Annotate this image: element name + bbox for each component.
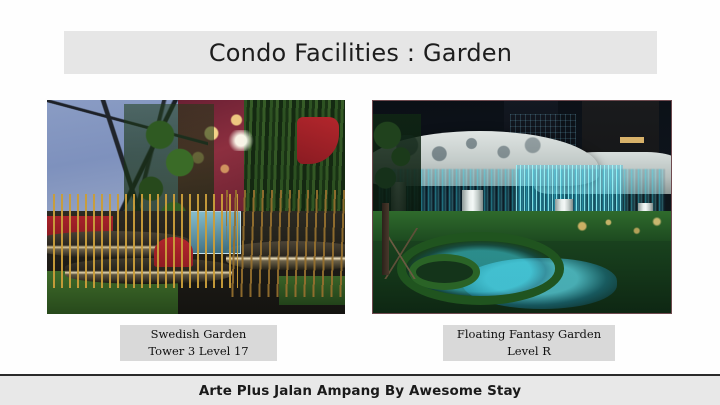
slide-canvas: Condo Facilities : Garden: [0, 0, 720, 405]
caption-location: Level R: [507, 343, 551, 360]
warm-garden-lights: [564, 211, 665, 249]
footer-label: Arte Plus Jalan Ampang By Awesome Stay: [199, 383, 521, 399]
caption-title: Floating Fantasy Garden: [457, 326, 601, 343]
photo-swedish-garden: [47, 100, 345, 314]
golden-rod-screen: [53, 194, 238, 288]
caption-location: Tower 3 Level 17: [148, 343, 248, 360]
page-title: Condo Facilities : Garden: [209, 39, 512, 67]
slide-footer: Arte Plus Jalan Ampang By Awesome Stay: [0, 374, 720, 405]
caption-swedish-garden: Swedish Garden Tower 3 Level 17: [120, 325, 277, 361]
rod-screen-right: [226, 190, 345, 297]
caption-floating-fantasy-garden: Floating Fantasy Garden Level R: [443, 325, 615, 361]
background-foliage: [373, 114, 421, 212]
photo-left-art: [47, 100, 345, 314]
photo-floating-fantasy-garden: [372, 100, 672, 314]
tree-trunk: [382, 203, 389, 275]
lit-window: [620, 137, 644, 143]
light-flare: [226, 130, 256, 151]
caption-title: Swedish Garden: [151, 326, 247, 343]
slide-title-band: Condo Facilities : Garden: [64, 31, 657, 74]
photo-right-art: [373, 101, 671, 313]
